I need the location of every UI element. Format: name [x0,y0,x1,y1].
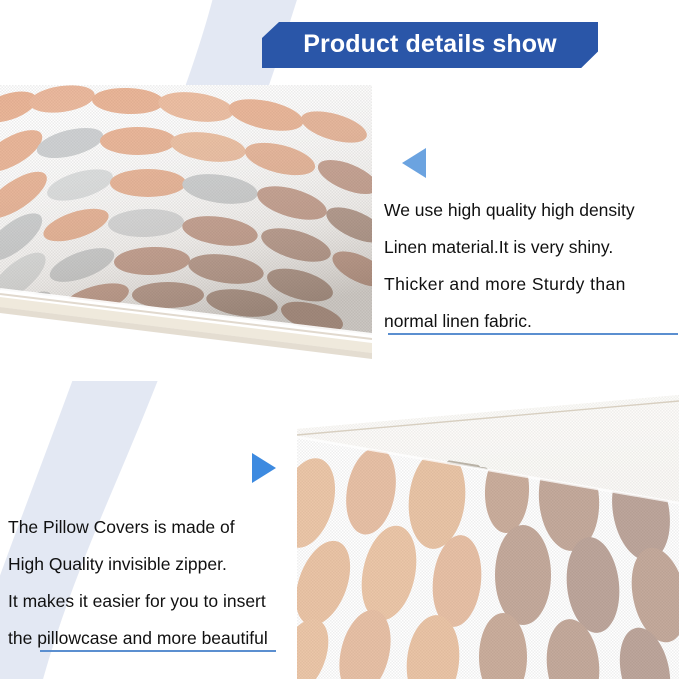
top-description: We use high quality high density Linen m… [384,192,635,340]
bottom-divider [40,650,276,652]
banner-title: Product details show [262,22,598,68]
product-photo-bottom [297,395,679,679]
top-line-1: We use high quality high density [384,192,635,229]
arrow-right-icon [252,453,276,483]
product-detail-image: Product details show We use high quality… [0,0,679,679]
product-photo-top [0,85,372,381]
top-line-3: Thicker and more Sturdy than [384,266,635,303]
arrow-left-icon [402,148,426,178]
bottom-line-3: It makes it easier for you to insert [8,583,268,620]
bottom-description: The Pillow Covers is made of High Qualit… [8,509,268,657]
top-line-2: Linen material.It is very shiny. [384,229,635,266]
top-divider [388,333,678,335]
bottom-line-2: High Quality invisible zipper. [8,546,268,583]
bottom-line-1: The Pillow Covers is made of [8,509,268,546]
section-banner: Product details show [262,22,598,68]
